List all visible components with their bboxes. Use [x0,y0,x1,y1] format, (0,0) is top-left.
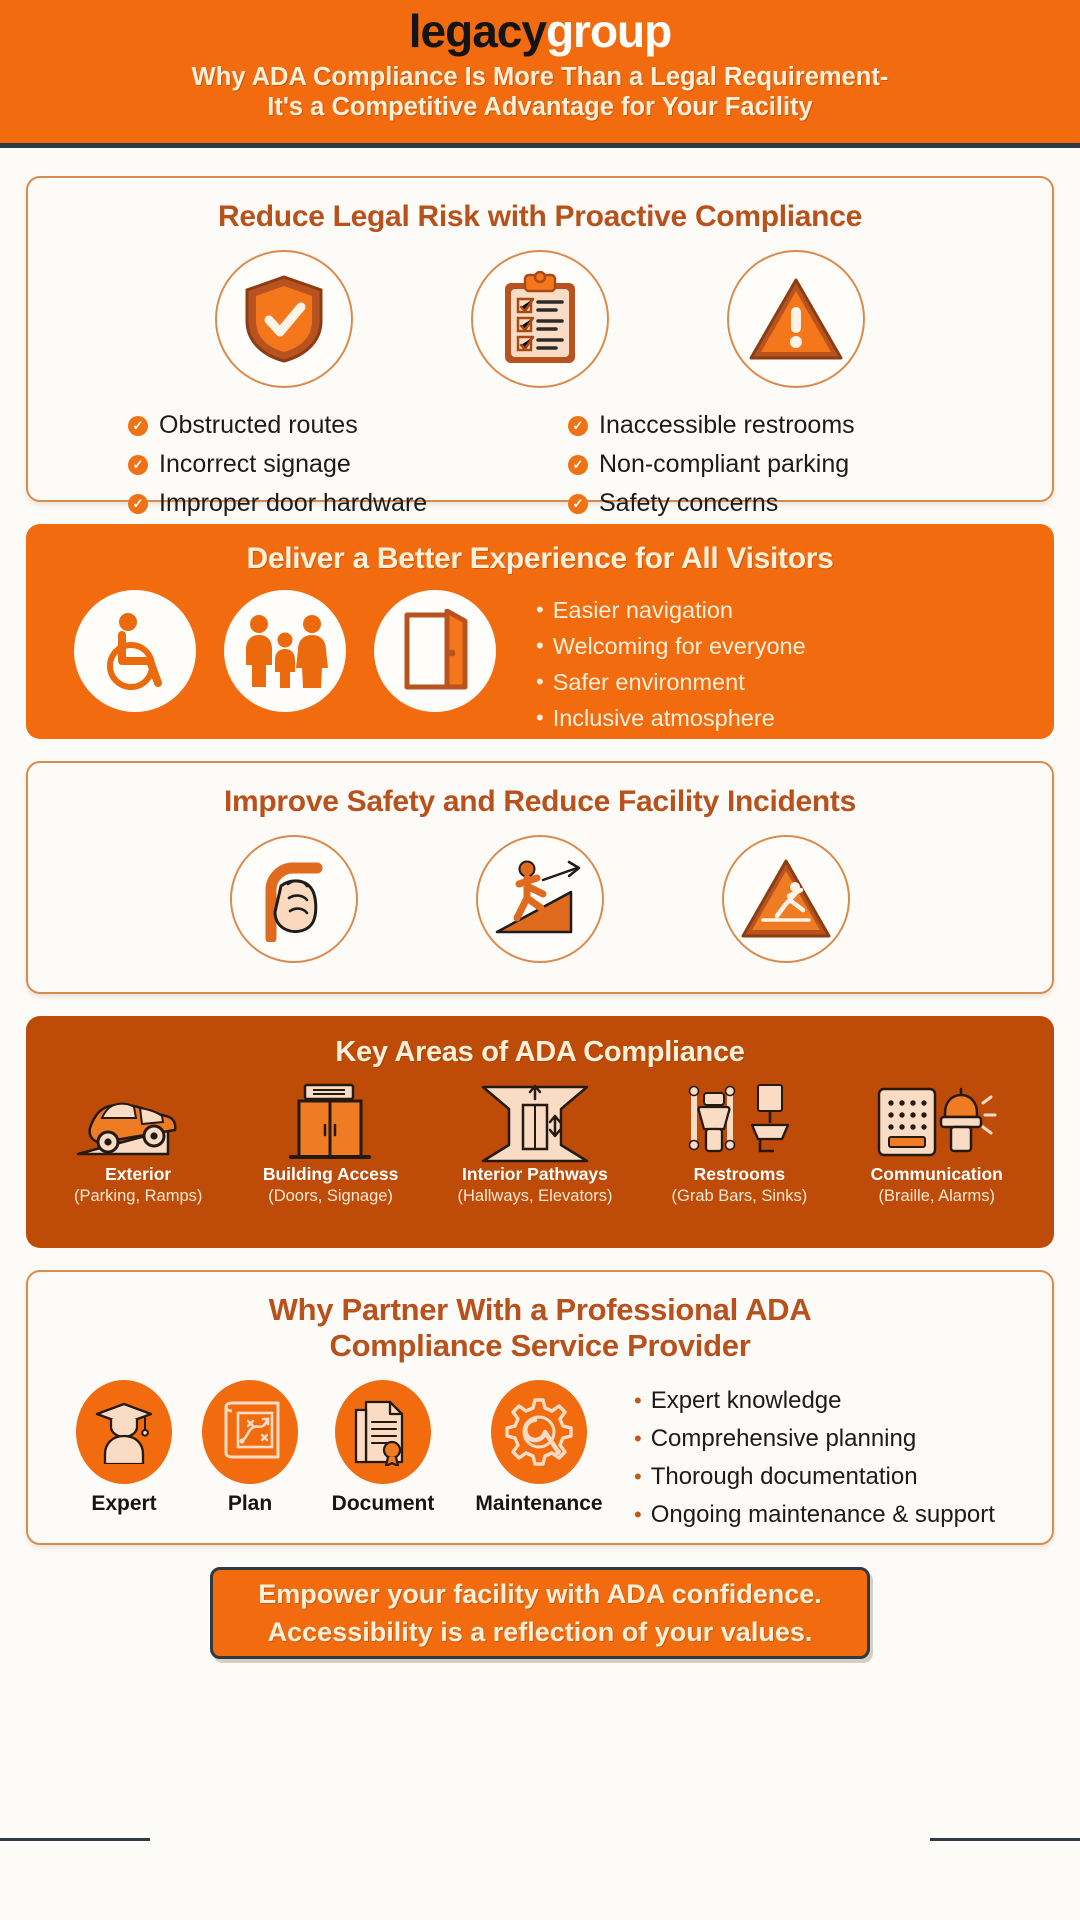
partner-bullet-label: Expert knowledge [651,1382,842,1420]
section-improve-safety: Improve Safety and Reduce Facility Incid… [26,761,1054,994]
partner-bullet: • Comprehensive planning [634,1420,995,1458]
partner-step: Document [324,1380,442,1534]
check-icon: ✓ [568,494,588,514]
risk-item-label: Inaccessible restrooms [599,406,855,445]
check-icon: ✓ [128,494,148,514]
risk-item-label: Incorrect signage [159,445,351,484]
graduate-expert-icon [76,1380,172,1484]
partner-step: Expert [72,1380,176,1534]
partner-step: Maintenance [464,1380,614,1534]
section-why-partner: Why Partner With a Professional ADA Comp… [26,1270,1054,1545]
logo-text-primary: legacy [409,5,546,57]
experience-bullet-label: Safer environment [553,664,745,700]
braille-alarm-icon [839,1083,1035,1163]
toilet-grabbar-icon [646,1083,832,1163]
key-area-label: Building Access [238,1163,424,1185]
key-area-sublabel: (Braille, Alarms) [839,1185,1035,1207]
footer-callout: Empower your facility with ADA confidenc… [210,1567,870,1659]
risk-item-label: Obstructed routes [159,406,358,445]
bullet-icon: • [536,592,544,628]
section-reduce-legal-risk: Reduce Legal Risk with Proactive Complia… [26,176,1054,502]
experience-bullet: • Safer environment [536,664,806,700]
risk-item: ✓ Inaccessible restrooms [568,406,988,445]
bullet-icon: • [536,628,544,664]
infographic-page: legacygroup Why ADA Compliance Is More T… [0,0,1080,1920]
open-door-icon [374,590,496,712]
partner-bullet: • Thorough documentation [634,1458,995,1496]
key-area-label: Communication [839,1163,1035,1185]
section5-title-line2: Compliance Service Provider [28,1328,1052,1364]
page-header: legacygroup Why ADA Compliance Is More T… [0,0,1080,143]
partner-step-label: Maintenance [464,1492,614,1516]
footer-line2: Accessibility is a reflection of your va… [258,1613,822,1651]
risk-item-label: Improper door hardware [159,484,427,523]
section1-title: Reduce Legal Risk with Proactive Complia… [28,178,1052,234]
key-area-label: Exterior [45,1163,231,1185]
key-area-sublabel: (Doors, Signage) [238,1185,424,1207]
elevator-hallway-icon [430,1083,640,1163]
car-ramp-icon [45,1083,231,1163]
partner-step-label: Expert [72,1492,176,1516]
experience-bullet: • Easier navigation [536,592,806,628]
footer-rule-left [0,1838,150,1841]
key-area-sublabel: (Grab Bars, Sinks) [646,1185,832,1207]
footer-rule-right [930,1838,1080,1841]
key-area-sublabel: (Parking, Ramps) [45,1185,231,1207]
key-area-label: Interior Pathways [430,1163,640,1185]
bullet-icon: • [536,700,544,736]
blueprint-plan-icon [202,1380,298,1484]
warning-triangle-icon [727,250,865,388]
experience-bullet: • Inclusive atmosphere [536,700,806,736]
key-area-item: Interior Pathways (Hallways, Elevators) [430,1083,640,1207]
section-key-areas: Key Areas of ADA Compliance Exteri [26,1016,1054,1248]
partner-step-label: Plan [198,1492,302,1516]
check-icon: ✓ [128,455,148,475]
partner-bullet-label: Comprehensive planning [651,1420,917,1458]
slip-hazard-sign-icon [722,835,850,963]
gear-wrench-maintenance-icon [491,1380,587,1484]
check-icon: ✓ [128,416,148,436]
logo-text-secondary: group [546,5,671,57]
check-icon: ✓ [568,416,588,436]
key-area-item: Building Access (Doors, Signage) [238,1083,424,1207]
footer-line1: Empower your facility with ADA confidenc… [258,1575,822,1613]
brand-logo: legacygroup [0,4,1080,58]
key-area-item: Exterior (Parking, Ramps) [45,1083,231,1207]
experience-bullet-label: Easier navigation [553,592,733,628]
partner-step-label: Document [324,1492,442,1516]
partner-bullet-label: Thorough documentation [651,1458,918,1496]
clipboard-checklist-icon [471,250,609,388]
experience-bullet: • Welcoming for everyone [536,628,806,664]
section4-title: Key Areas of ADA Compliance [26,1016,1054,1069]
shield-check-icon [215,250,353,388]
wheelchair-accessibility-icon [74,590,196,712]
family-group-icon [224,590,346,712]
key-area-sublabel: (Hallways, Elevators) [430,1185,640,1207]
risk-item: ✓ Incorrect signage [128,445,568,484]
bullet-icon: • [634,1458,642,1496]
partner-bullet: • Ongoing maintenance & support [634,1496,995,1534]
risk-item: ✓ Improper door hardware [128,484,568,523]
header-subtitle-line1: Why ADA Compliance Is More Than a Legal … [0,60,1080,94]
experience-bullet-label: Welcoming for everyone [553,628,806,664]
risk-item-label: Non-compliant parking [599,445,849,484]
partner-bullet-label: Ongoing maintenance & support [651,1496,995,1534]
partner-step: Plan [198,1380,302,1534]
key-area-item: Communication (Braille, Alarms) [839,1083,1035,1207]
ramp-access-icon [476,835,604,963]
section5-title-line1: Why Partner With a Professional ADA [28,1272,1052,1328]
bullet-icon: • [536,664,544,700]
bullet-icon: • [634,1496,642,1534]
partner-bullet: • Expert knowledge [634,1382,995,1420]
section2-title: Deliver a Better Experience for All Visi… [26,524,1054,576]
header-subtitle-line2: It's a Competitive Advantage for Your Fa… [0,90,1080,124]
header-divider [0,143,1080,148]
double-doors-icon [238,1083,424,1163]
certificate-document-icon [335,1380,431,1484]
risk-item-label: Safety concerns [599,484,778,523]
key-area-item: Restrooms (Grab Bars, Sinks) [646,1083,832,1207]
key-area-label: Restrooms [646,1163,832,1185]
bullet-icon: • [634,1382,642,1420]
bullet-icon: • [634,1420,642,1458]
section3-title: Improve Safety and Reduce Facility Incid… [28,763,1052,819]
risk-item: ✓ Safety concerns [568,484,988,523]
experience-bullet-label: Inclusive atmosphere [553,700,775,736]
check-icon: ✓ [568,455,588,475]
handrail-grip-icon [230,835,358,963]
risk-item: ✓ Obstructed routes [128,406,568,445]
risk-item: ✓ Non-compliant parking [568,445,988,484]
section-better-experience: Deliver a Better Experience for All Visi… [26,524,1054,739]
